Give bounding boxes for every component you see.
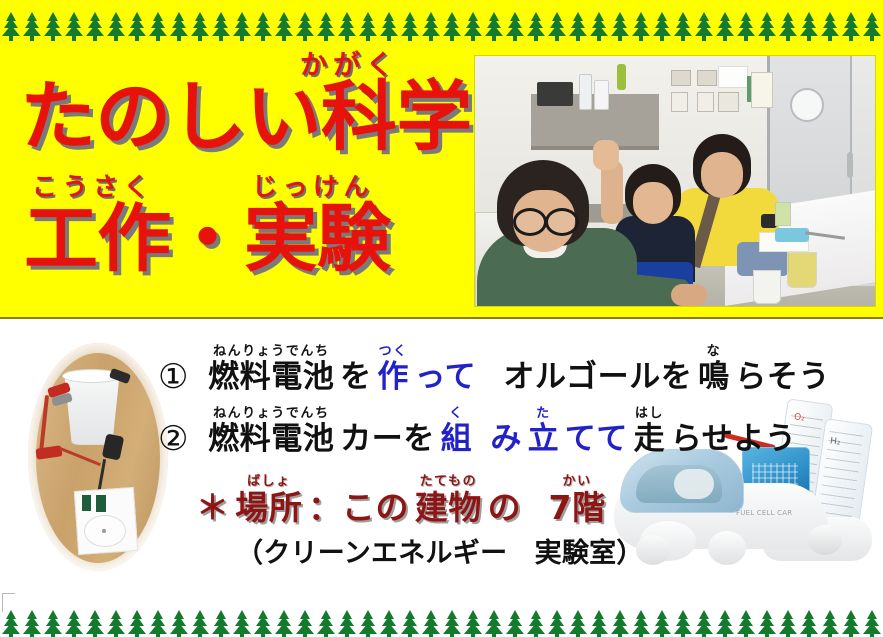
fir-tree-icon <box>441 12 462 41</box>
fir-tree-icon <box>777 610 798 637</box>
fir-tree-icon <box>798 610 819 637</box>
photo-cylinder-h2-label: H₂ <box>829 436 841 447</box>
photo-car-motor <box>674 469 714 499</box>
fir-tree-icon <box>189 610 210 637</box>
item2-seg-mi: み <box>490 407 522 456</box>
fir-tree-icon <box>546 610 567 637</box>
item1-seg-narasu: な 鳴 <box>698 345 730 394</box>
fir-tree-icon <box>609 12 630 41</box>
fir-tree-icon <box>315 610 336 637</box>
fuel-cell-cup-photo <box>28 343 168 571</box>
fir-tree-icon <box>588 12 609 41</box>
photo-module-chip-1 <box>82 495 91 511</box>
kanji: 走 <box>634 423 666 456</box>
header-photo <box>474 55 876 307</box>
photo-door-window <box>790 88 824 122</box>
fir-tree-icon <box>861 12 882 41</box>
item1-seg-tte: って <box>415 345 477 394</box>
fir-tree-icon <box>819 610 840 637</box>
body-block: O₂ H₂ FUEL CELL CAR ① <box>0 319 883 600</box>
fir-tree-icon <box>840 12 861 41</box>
fir-tree-icon <box>672 12 693 41</box>
fir-tree-icon <box>651 12 672 41</box>
fir-tree-icon <box>630 610 651 637</box>
photo-door-handle <box>847 152 853 178</box>
fir-tree-icon <box>420 12 441 41</box>
fir-tree-icon <box>420 610 441 637</box>
photo-table-cup-yellow <box>787 252 817 288</box>
fir-tree-icon <box>21 610 42 637</box>
photo-person-student-hand <box>671 284 707 306</box>
fir-tree-icon <box>231 12 252 41</box>
item2-seg-tete: てて <box>565 407 628 456</box>
fir-tree-icon <box>693 12 714 41</box>
fir-tree-icon <box>525 12 546 41</box>
kanji: 建物 <box>415 491 482 526</box>
photo-table-vial <box>775 202 791 226</box>
fir-tree-icon <box>252 12 273 41</box>
item1-seg-orugooru: オルゴールを <box>503 345 692 394</box>
title-line-1: たのしい科学 <box>20 80 471 154</box>
fir-tree-icon <box>336 12 357 41</box>
photo-person-child-face <box>633 182 673 224</box>
fir-tree-icon <box>84 12 105 41</box>
item2-seg-hashiru: はし 走 <box>634 407 666 456</box>
fir-tree-icon <box>567 610 588 637</box>
photo-person-student-glasses-left <box>513 208 547 236</box>
fir-tree-icon <box>693 610 714 637</box>
fir-tree-icon <box>63 610 84 637</box>
fir-tree-icon <box>861 610 882 637</box>
fir-tree-icon <box>567 12 588 41</box>
tree-row <box>0 11 883 41</box>
fir-tree-icon <box>63 12 84 41</box>
fir-tree-icon <box>126 12 147 41</box>
item-row-1: ① ねんりょうでんち 燃料電池 を つく 作 って オルゴールを な 鳴 らそう <box>158 345 830 394</box>
item2-seg-nenryoudenchi: ねんりょうでんち 燃料電池 <box>208 407 334 456</box>
fir-tree-icon <box>483 610 504 637</box>
fir-tree-icon <box>0 610 21 637</box>
fir-tree-icon <box>462 12 483 41</box>
kanji: 燃料電池 <box>208 361 334 394</box>
photo-module-speaker-center <box>102 529 106 533</box>
fir-tree-icon <box>525 610 546 637</box>
photo-module-chip-2 <box>96 495 106 512</box>
fir-tree-icon <box>21 12 42 41</box>
photo-car-wheel-2 <box>708 531 746 565</box>
item1-seg-wo: を <box>340 345 372 394</box>
photo-wall-panel-2 <box>697 70 717 86</box>
photo-bottle-b <box>594 80 609 110</box>
place-sub-text: （クリーンエネルギー 実験室） <box>236 531 644 570</box>
fir-tree-icon <box>714 610 735 637</box>
photo-wall-poster-1 <box>718 66 748 88</box>
photo-shelf-box <box>537 82 573 106</box>
kanji: 立 <box>528 423 560 456</box>
fir-tree-icon <box>294 12 315 41</box>
fir-tree-icon <box>126 610 147 637</box>
fir-tree-icon <box>504 610 525 637</box>
item2-seg-kumu: く 組 <box>441 407 473 456</box>
fir-tree-icon <box>168 12 189 41</box>
fir-tree-icon <box>399 12 420 41</box>
fir-tree-icon <box>168 610 189 637</box>
fir-tree-icon <box>315 12 336 41</box>
photo-switch-3 <box>718 92 739 112</box>
fir-tree-icon <box>378 610 399 637</box>
fir-tree-icon <box>105 610 126 637</box>
fir-tree-icon <box>798 12 819 41</box>
item1-seg-tsukuru: つく 作 <box>377 345 409 394</box>
kanji: 場所 <box>235 491 302 526</box>
photo-car-wheel-3 <box>808 525 842 555</box>
item2-seg-car-wo: カーを <box>340 407 435 456</box>
fir-tree-icon <box>756 610 777 637</box>
fir-tree-icon <box>840 610 861 637</box>
fir-tree-icon <box>672 610 693 637</box>
fir-tree-icon <box>777 12 798 41</box>
fir-tree-icon <box>105 12 126 41</box>
fir-tree-icon <box>357 12 378 41</box>
fir-tree-icon <box>630 12 651 41</box>
fir-tree-icon <box>714 12 735 41</box>
photo-person-adult-face <box>701 152 743 198</box>
fir-tree-icon <box>609 610 630 637</box>
fir-tree-icon <box>588 610 609 637</box>
item-number-2: ② <box>158 422 188 456</box>
fir-tree-icon <box>147 12 168 41</box>
photo-switch-2 <box>697 92 714 112</box>
fir-tree-icon <box>210 610 231 637</box>
fir-tree-icon <box>210 12 231 41</box>
item2-seg-tateru: た 立 <box>528 407 560 456</box>
kanji: 作 <box>377 361 409 394</box>
fir-tree-icon <box>231 610 252 637</box>
kanji: 燃料電池 <box>208 423 334 456</box>
kanji: 組 <box>441 423 473 456</box>
title-area: かがく たのしい科学 こうさく じっけん 工作・実験 <box>14 46 469 311</box>
item2-seg-raseyou: らせよう <box>671 407 797 456</box>
fir-tree-icon <box>735 12 756 41</box>
fir-tree-icon <box>735 610 756 637</box>
fir-tree-icon <box>483 12 504 41</box>
corner-crop-mark <box>2 593 15 612</box>
photo-wall-panel-1 <box>671 70 691 86</box>
item-row-2: ② ねんりょうでんち 燃料電池 カーを く 組 み た 立 てて は <box>158 407 797 456</box>
fir-tree-icon <box>42 610 63 637</box>
fir-tree-icon <box>0 12 21 41</box>
place-row: ＊ ばしょ 場所 ：この たてもの 建物 の かい 7階 <box>196 475 606 526</box>
photo-table-kit <box>775 228 809 242</box>
fir-tree-icon <box>441 610 462 637</box>
fir-tree-icon <box>546 12 567 41</box>
fir-tree-icon <box>252 610 273 637</box>
item1-seg-nenryoudenchi: ねんりょうでんち 燃料電池 <box>208 345 334 394</box>
fir-tree-icon <box>42 12 63 41</box>
asterisk-marker: ＊ <box>196 475 230 526</box>
fir-tree-icon <box>462 610 483 637</box>
photo-switch-1 <box>671 92 688 112</box>
photo-car-logo: FUEL CELL CAR <box>736 509 792 517</box>
item1-seg-rasou: らそう <box>735 345 830 394</box>
fir-tree-icon <box>147 610 168 637</box>
photo-table-cup-white <box>753 270 781 304</box>
title-line-2: 工作・実験 <box>24 203 390 276</box>
photo-wall-poster-2 <box>751 72 773 108</box>
fir-tree-icon <box>399 610 420 637</box>
place-seg-kono: ：この <box>308 475 409 526</box>
bottom-tree-border <box>0 600 883 637</box>
fir-tree-icon <box>273 12 294 41</box>
poster-root: かがく たのしい科学 こうさく じっけん 工作・実験 <box>0 0 883 637</box>
photo-person-child-peace-hand <box>593 140 619 170</box>
top-tree-border <box>0 0 883 44</box>
fir-tree-icon <box>357 610 378 637</box>
place-seg-basho: ばしょ 場所 <box>235 475 302 526</box>
tree-row <box>0 609 883 637</box>
fir-tree-icon <box>378 12 399 41</box>
kanji: 7階 <box>548 491 605 526</box>
fir-tree-icon <box>189 12 210 41</box>
place-seg-no: の <box>488 475 522 526</box>
fir-tree-icon <box>336 610 357 637</box>
fir-tree-icon <box>504 12 525 41</box>
photo-bottle-c <box>617 64 626 90</box>
fir-tree-icon <box>651 610 672 637</box>
item-number-1: ① <box>158 360 188 394</box>
photo-person-student-glasses-right <box>545 208 579 236</box>
fir-tree-icon <box>819 12 840 41</box>
fir-tree-icon <box>294 610 315 637</box>
place-seg-floor: かい 7階 <box>548 475 605 526</box>
fir-tree-icon <box>756 12 777 41</box>
fir-tree-icon <box>273 610 294 637</box>
fir-tree-icon <box>84 610 105 637</box>
place-seg-tatemono: たてもの 建物 <box>415 475 482 526</box>
photo-bottle-a <box>579 74 592 110</box>
kanji: 鳴 <box>698 361 730 394</box>
